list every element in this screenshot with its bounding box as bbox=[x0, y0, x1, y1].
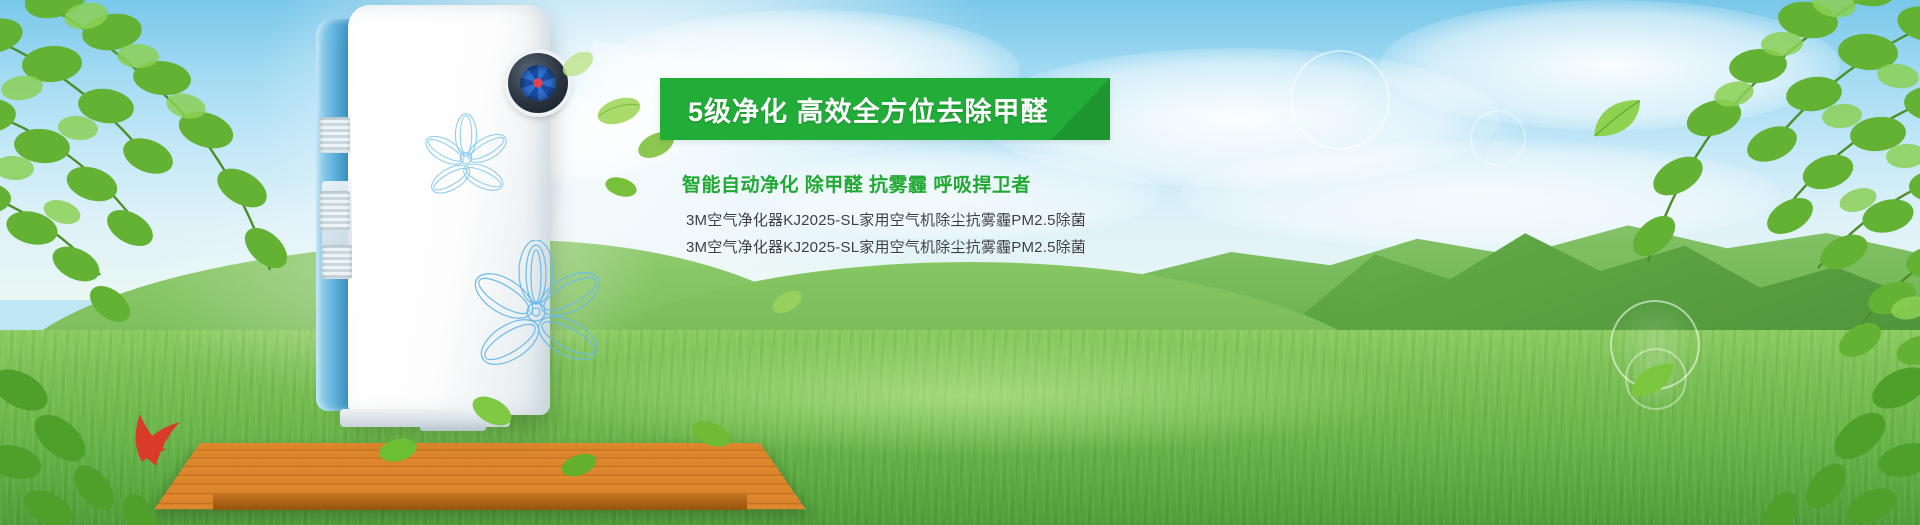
purifier-vent-grille bbox=[322, 245, 352, 279]
subtitle-text: 智能自动净化 除甲醛 抗雾霾 呼吸捍卫者 bbox=[682, 170, 1300, 197]
product-description-line-1: 3M空气净化器KJ2025-SL家用空气机除尘抗雾霾PM2.5除菌 bbox=[686, 209, 1300, 230]
headline-banner: 5级净化 高效全方位去除甲醛 bbox=[660, 78, 1110, 140]
air-purifier-product bbox=[300, 5, 550, 425]
fan-dial-icon bbox=[508, 53, 568, 113]
copy-block: 5级净化 高效全方位去除甲醛 智能自动净化 除甲醛 抗雾霾 呼吸捍卫者 3M空气… bbox=[660, 78, 1300, 257]
promotional-banner: 5级净化 高效全方位去除甲醛 智能自动净化 除甲醛 抗雾霾 呼吸捍卫者 3M空气… bbox=[0, 0, 1920, 525]
purifier-vent-grille bbox=[320, 191, 350, 231]
grass-highlight bbox=[520, 336, 1420, 456]
page-title: 5级净化 高效全方位去除甲醛 bbox=[688, 90, 1049, 129]
product-description-line-2: 3M空气净化器KJ2025-SL家用空气机除尘抗雾霾PM2.5除菌 bbox=[686, 236, 1300, 257]
wooden-deck-edge bbox=[213, 494, 747, 510]
purifier-foot bbox=[420, 417, 486, 431]
purifier-body bbox=[348, 5, 550, 415]
purifier-vent-grille bbox=[320, 117, 350, 153]
flower-outline-icon bbox=[418, 110, 514, 206]
